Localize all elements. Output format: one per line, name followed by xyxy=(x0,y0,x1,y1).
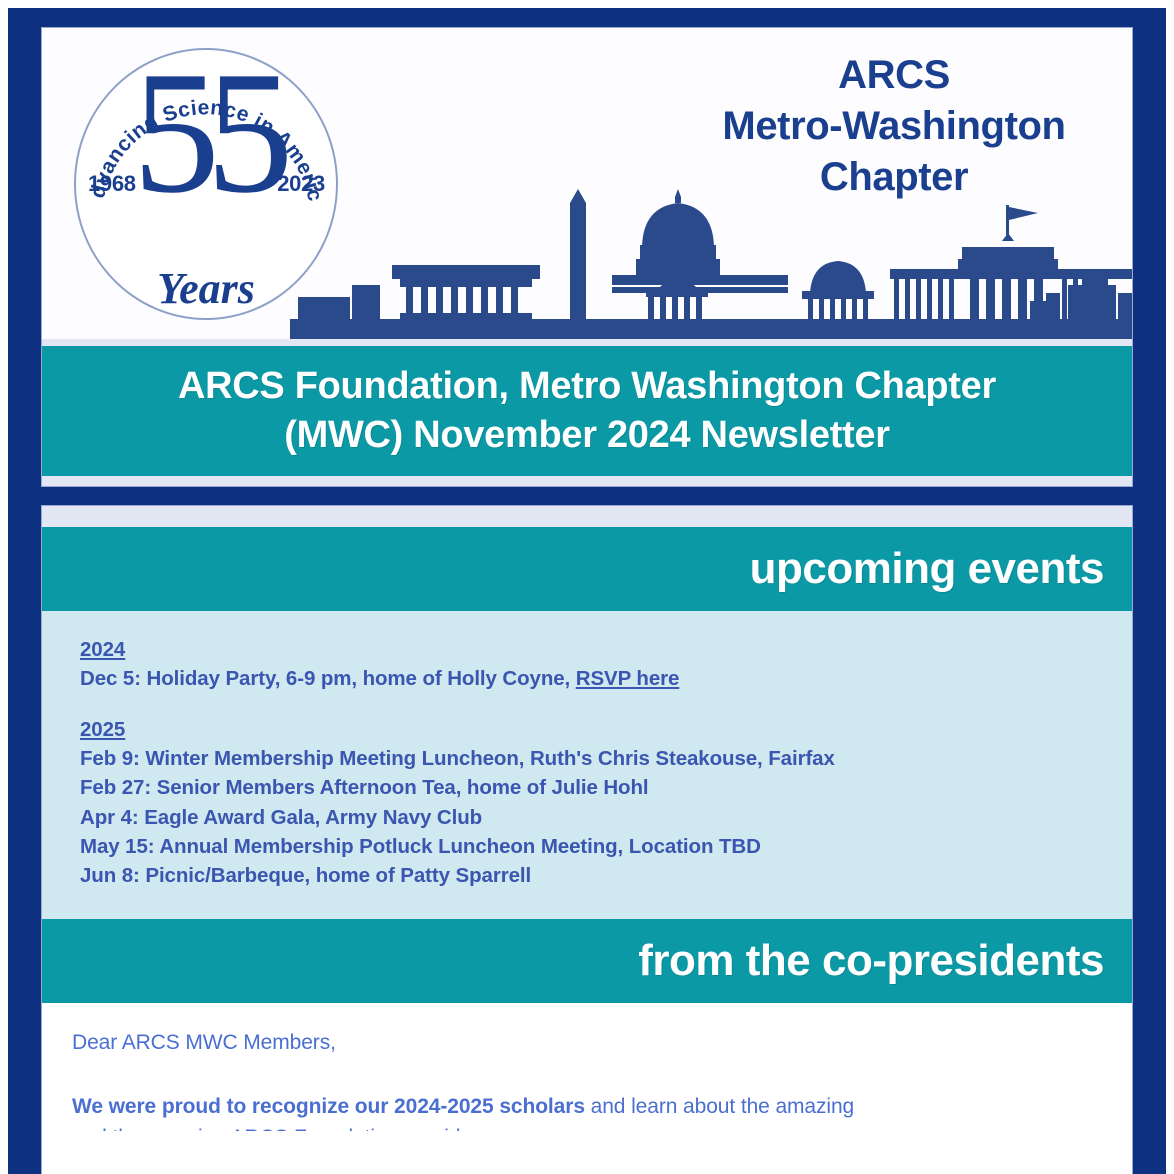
section-header-co-presidents: from the co-presidents xyxy=(42,919,1132,1003)
chapter-title: ARCS Metro-Washington Chapter xyxy=(694,50,1094,204)
letter-paragraph-1-rest: and learn about the amazing xyxy=(585,1095,854,1118)
washington-dc-skyline-icon xyxy=(290,189,1132,339)
event-item: Dec 5: Holiday Party, 6-9 pm, home of Ho… xyxy=(80,664,1132,693)
events-year-2024: 2024 xyxy=(80,635,1132,664)
masthead-bottom-strip xyxy=(42,476,1132,487)
masthead-divider-strip xyxy=(42,339,1132,346)
event-item: Feb 9: Winter Membership Meeting Luncheo… xyxy=(80,744,1132,773)
seal-year-start: 1968 xyxy=(88,171,136,197)
co-presidents-letter-panel: Dear ARCS MWC Members, We were proud to … xyxy=(42,1003,1132,1131)
event-item: Jun 8: Picnic/Barbeque, home of Patty Sp… xyxy=(80,861,1132,890)
masthead-card: Advancing Science in America 55 1968 202… xyxy=(41,27,1133,487)
chapter-title-line-2: Metro-Washington xyxy=(694,101,1094,152)
letter-paragraph-1-clipped-line: and the amazing ARCS Foundation provides xyxy=(72,1123,1132,1131)
letter-salutation: Dear ARCS MWC Members, xyxy=(72,1028,1132,1059)
event-item: Feb 27: Senior Members Afternoon Tea, ho… xyxy=(80,773,1132,802)
chapter-title-line-1: ARCS xyxy=(694,50,1094,101)
events-year-2025: 2025 xyxy=(80,715,1132,744)
upcoming-events-heading: upcoming events xyxy=(750,544,1104,594)
letter-paragraph-1-bold: We were proud to recognize our 2024-2025… xyxy=(72,1095,585,1118)
newsletter-title-band: ARCS Foundation, Metro Washington Chapte… xyxy=(42,346,1132,476)
co-presidents-heading: from the co-presidents xyxy=(638,936,1104,986)
newsletter-title-line-2: (MWC) November 2024 Newsletter xyxy=(284,414,890,456)
masthead: Advancing Science in America 55 1968 202… xyxy=(42,28,1132,339)
events-group-spacer xyxy=(80,694,1132,715)
newsletter-frame: Advancing Science in America 55 1968 202… xyxy=(8,8,1166,1174)
event-item: Apr 4: Eagle Award Gala, Army Navy Club xyxy=(80,803,1132,832)
newsletter-title: ARCS Foundation, Metro Washington Chapte… xyxy=(178,362,996,459)
upcoming-events-panel: 2024 Dec 5: Holiday Party, 6-9 pm, home … xyxy=(42,611,1132,919)
section-header-upcoming-events: upcoming events xyxy=(42,527,1132,611)
event-text: Dec 5: Holiday Party, 6-9 pm, home of Ho… xyxy=(80,667,576,690)
body-card: upcoming events 2024 Dec 5: Holiday Part… xyxy=(41,505,1133,1174)
letter-paragraph-1: We were proud to recognize our 2024-2025… xyxy=(72,1092,1132,1123)
event-item: May 15: Annual Membership Potluck Lunche… xyxy=(80,832,1132,861)
rsvp-here-link[interactable]: RSVP here xyxy=(576,667,680,690)
body-top-strip xyxy=(42,506,1132,527)
newsletter-title-line-1: ARCS Foundation, Metro Washington Chapte… xyxy=(178,365,996,407)
